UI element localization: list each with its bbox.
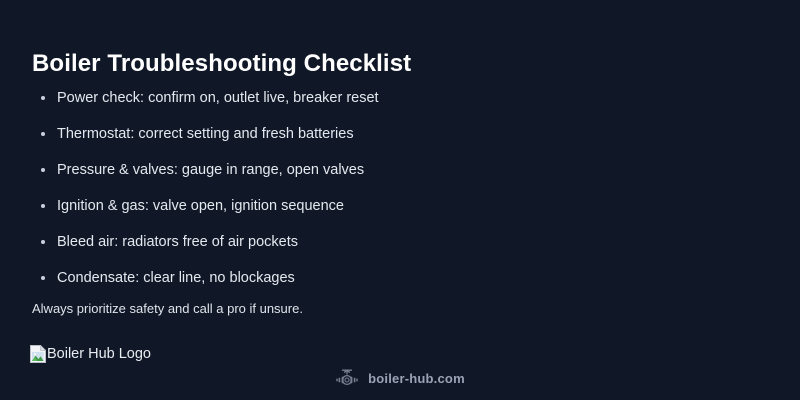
safety-footnote: Always prioritize safety and call a pro … — [32, 301, 303, 316]
bullet-icon — [41, 132, 45, 136]
bullet-icon — [41, 96, 45, 100]
list-item-label: Bleed air: radiators free of air pockets — [57, 234, 298, 250]
logo-alt-text: Boiler Hub Logo — [47, 345, 151, 363]
valve-icon — [335, 366, 359, 390]
watermark: boiler-hub.com — [0, 366, 800, 390]
list-item-label: Ignition & gas: valve open, ignition seq… — [57, 198, 344, 214]
watermark-text: boiler-hub.com — [368, 371, 465, 386]
list-item: Power check: confirm on, outlet live, br… — [32, 80, 632, 116]
list-item: Bleed air: radiators free of air pockets — [32, 224, 632, 260]
checklist-page: Boiler Troubleshooting Checklist Power c… — [0, 0, 800, 400]
list-item-label: Pressure & valves: gauge in range, open … — [57, 162, 364, 178]
list-item: Pressure & valves: gauge in range, open … — [32, 152, 632, 188]
broken-image-icon — [30, 345, 46, 363]
checklist: Power check: confirm on, outlet live, br… — [32, 80, 632, 296]
bullet-icon — [41, 240, 45, 244]
list-item: Condensate: clear line, no blockages — [32, 260, 632, 296]
bullet-icon — [41, 276, 45, 280]
list-item-label: Thermostat: correct setting and fresh ba… — [57, 126, 354, 142]
page-title: Boiler Troubleshooting Checklist — [32, 49, 411, 79]
bullet-icon — [41, 204, 45, 208]
logo-placeholder: Boiler Hub Logo — [30, 345, 151, 363]
bullet-icon — [41, 168, 45, 172]
list-item-label: Condensate: clear line, no blockages — [57, 270, 295, 286]
list-item: Ignition & gas: valve open, ignition seq… — [32, 188, 632, 224]
list-item: Thermostat: correct setting and fresh ba… — [32, 116, 632, 152]
list-item-label: Power check: confirm on, outlet live, br… — [57, 90, 379, 106]
